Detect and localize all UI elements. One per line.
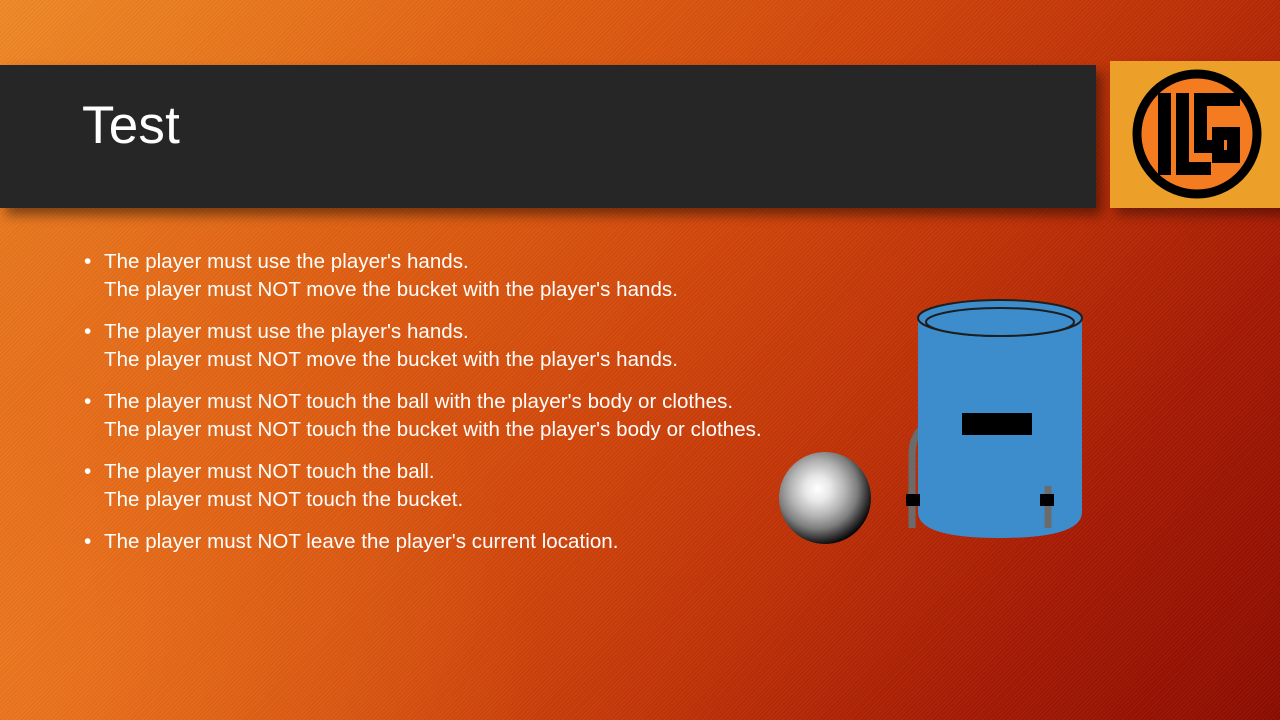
list-item-line: The player must NOT move the bucket with… (104, 276, 780, 304)
bullet-marker-icon: • (80, 388, 104, 416)
bullet-list: • The player must use the player's hands… (80, 248, 780, 571)
bullet-marker-icon: • (80, 458, 104, 486)
ilg-logo-icon (1132, 69, 1262, 199)
bullet-marker-icon: • (80, 318, 104, 346)
bullet-marker-icon: • (80, 528, 104, 556)
list-item-line: The player must NOT touch the ball. (104, 458, 780, 486)
slide: Test • The player must use the player's … (0, 0, 1280, 720)
list-item-text: The player must use the player's hands. … (104, 318, 780, 373)
list-item-line: The player must NOT leave the player's c… (104, 528, 780, 556)
page-title: Test (82, 99, 180, 152)
ball-and-bucket-illustration (760, 290, 1120, 560)
logo-panel (1110, 61, 1280, 208)
list-item-line: The player must use the player's hands. (104, 318, 780, 346)
bucket-grip-bar-icon (962, 413, 1032, 435)
list-item-line: The player must use the player's hands. (104, 248, 780, 276)
list-item: • The player must NOT leave the player's… (80, 528, 780, 556)
list-item: • The player must NOT touch the ball wit… (80, 388, 780, 443)
list-item-line: The player must NOT touch the ball with … (104, 388, 780, 416)
ball-icon (779, 452, 871, 544)
list-item-line: The player must NOT touch the bucket wit… (104, 416, 780, 444)
list-item-text: The player must NOT touch the ball with … (104, 388, 780, 443)
bullet-marker-icon: • (80, 248, 104, 276)
list-item-line: The player must NOT touch the bucket. (104, 486, 780, 514)
list-item: • The player must use the player's hands… (80, 248, 780, 303)
list-item-line: The player must NOT move the bucket with… (104, 346, 780, 374)
list-item: • The player must use the player's hands… (80, 318, 780, 373)
list-item: • The player must NOT touch the ball. Th… (80, 458, 780, 513)
list-item-text: The player must use the player's hands. … (104, 248, 780, 303)
list-item-text: The player must NOT touch the ball. The … (104, 458, 780, 513)
handle-anchor-right-icon (1040, 494, 1054, 506)
list-item-text: The player must NOT leave the player's c… (104, 528, 780, 556)
handle-anchor-left-icon (906, 494, 920, 506)
